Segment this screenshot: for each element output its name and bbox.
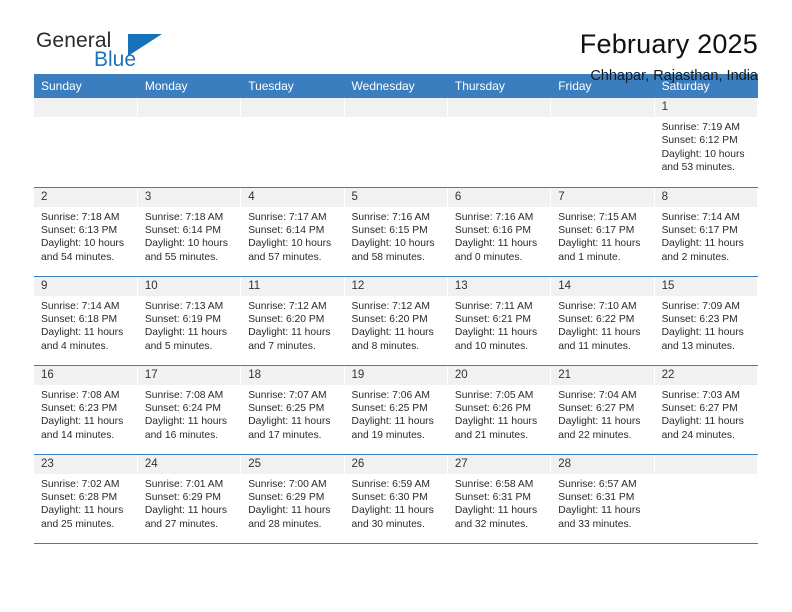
sunrise-text: Sunrise: 7:06 AM xyxy=(352,389,442,402)
day-sun-info: Sunrise: 7:12 AMSunset: 6:20 PMDaylight:… xyxy=(241,296,343,354)
sunrise-text: Sunrise: 7:09 AM xyxy=(662,300,752,313)
sunrise-text: Sunrise: 7:05 AM xyxy=(455,389,545,402)
calendar-day-cell-empty xyxy=(241,98,344,187)
day-sun-info: Sunrise: 7:13 AMSunset: 6:19 PMDaylight:… xyxy=(138,296,240,354)
calendar-day-cell[interactable]: 19Sunrise: 7:06 AMSunset: 6:25 PMDayligh… xyxy=(344,365,447,454)
daylight-text-line2: and 22 minutes. xyxy=(558,429,648,442)
logo-text-blue: Blue xyxy=(94,49,136,70)
sunrise-text: Sunrise: 7:07 AM xyxy=(248,389,338,402)
sunrise-text: Sunrise: 7:12 AM xyxy=(248,300,338,313)
calendar-day-cell[interactable]: 4Sunrise: 7:17 AMSunset: 6:14 PMDaylight… xyxy=(241,187,344,276)
day-sun-info: Sunrise: 7:16 AMSunset: 6:15 PMDaylight:… xyxy=(345,207,447,265)
daylight-text-line2: and 19 minutes. xyxy=(352,429,442,442)
calendar-week-row: 1Sunrise: 7:19 AMSunset: 6:12 PMDaylight… xyxy=(34,98,758,187)
daylight-text-line1: Daylight: 11 hours xyxy=(248,326,338,339)
day-number: 13 xyxy=(448,277,550,296)
daylight-text-line2: and 21 minutes. xyxy=(455,429,545,442)
sunrise-text: Sunrise: 7:14 AM xyxy=(662,211,752,224)
daylight-text-line2: and 24 minutes. xyxy=(662,429,752,442)
daylight-text-line2: and 2 minutes. xyxy=(662,251,752,264)
sunset-text: Sunset: 6:23 PM xyxy=(662,313,752,326)
sunrise-text: Sunrise: 7:16 AM xyxy=(352,211,442,224)
day-sun-info: Sunrise: 7:14 AMSunset: 6:18 PMDaylight:… xyxy=(34,296,137,354)
sunrise-text: Sunrise: 7:04 AM xyxy=(558,389,648,402)
day-sun-info: Sunrise: 7:15 AMSunset: 6:17 PMDaylight:… xyxy=(551,207,653,265)
calendar-day-cell-empty xyxy=(137,98,240,187)
day-number: 27 xyxy=(448,455,550,474)
day-sun-info: Sunrise: 7:11 AMSunset: 6:21 PMDaylight:… xyxy=(448,296,550,354)
sunset-text: Sunset: 6:16 PM xyxy=(455,224,545,237)
sunset-text: Sunset: 6:26 PM xyxy=(455,402,545,415)
day-number: 6 xyxy=(448,188,550,207)
sunrise-text: Sunrise: 7:10 AM xyxy=(558,300,648,313)
calendar-day-cell[interactable]: 27Sunrise: 6:58 AMSunset: 6:31 PMDayligh… xyxy=(447,454,550,543)
sunset-text: Sunset: 6:14 PM xyxy=(248,224,338,237)
day-number: 14 xyxy=(551,277,653,296)
sunrise-text: Sunrise: 7:08 AM xyxy=(145,389,235,402)
sunset-text: Sunset: 6:30 PM xyxy=(352,491,442,504)
daylight-text-line2: and 5 minutes. xyxy=(145,340,235,353)
calendar-container: Sunday Monday Tuesday Wednesday Thursday… xyxy=(0,74,792,544)
day-number: 2 xyxy=(34,188,137,207)
sunrise-text: Sunrise: 7:01 AM xyxy=(145,478,235,491)
calendar-day-cell[interactable]: 24Sunrise: 7:01 AMSunset: 6:29 PMDayligh… xyxy=(137,454,240,543)
day-number: 15 xyxy=(655,277,757,296)
day-sun-info: Sunrise: 7:02 AMSunset: 6:28 PMDaylight:… xyxy=(34,474,137,532)
sunset-text: Sunset: 6:29 PM xyxy=(145,491,235,504)
day-number: 16 xyxy=(34,366,137,385)
daylight-text-line1: Daylight: 11 hours xyxy=(145,504,235,517)
sunrise-text: Sunrise: 7:19 AM xyxy=(662,121,752,134)
sunset-text: Sunset: 6:17 PM xyxy=(558,224,648,237)
calendar-page: General Blue February 2025 Chhapar, Raja… xyxy=(0,0,792,612)
day-number: 4 xyxy=(241,188,343,207)
calendar-day-cell[interactable]: 9Sunrise: 7:14 AMSunset: 6:18 PMDaylight… xyxy=(34,276,137,365)
daylight-text-line1: Daylight: 11 hours xyxy=(248,504,338,517)
daylight-text-line1: Daylight: 11 hours xyxy=(455,326,545,339)
daylight-text-line2: and 13 minutes. xyxy=(662,340,752,353)
day-sun-info: Sunrise: 6:58 AMSunset: 6:31 PMDaylight:… xyxy=(448,474,550,532)
daylight-text-line2: and 57 minutes. xyxy=(248,251,338,264)
calendar-day-cell[interactable]: 3Sunrise: 7:18 AMSunset: 6:14 PMDaylight… xyxy=(137,187,240,276)
sunset-text: Sunset: 6:24 PM xyxy=(145,402,235,415)
sunrise-text: Sunrise: 6:59 AM xyxy=(352,478,442,491)
day-number: 10 xyxy=(138,277,240,296)
calendar-day-cell[interactable]: 6Sunrise: 7:16 AMSunset: 6:16 PMDaylight… xyxy=(447,187,550,276)
day-sun-info: Sunrise: 7:08 AMSunset: 6:23 PMDaylight:… xyxy=(34,385,137,443)
sunrise-text: Sunrise: 7:11 AM xyxy=(455,300,545,313)
daylight-text-line1: Daylight: 11 hours xyxy=(455,504,545,517)
day-number: 22 xyxy=(655,366,757,385)
daylight-text-line1: Daylight: 11 hours xyxy=(41,504,132,517)
sunset-text: Sunset: 6:20 PM xyxy=(248,313,338,326)
sunset-text: Sunset: 6:27 PM xyxy=(558,402,648,415)
day-number xyxy=(138,98,240,117)
daylight-text-line2: and 17 minutes. xyxy=(248,429,338,442)
calendar-week-row: 16Sunrise: 7:08 AMSunset: 6:23 PMDayligh… xyxy=(34,365,758,454)
daylight-text-line2: and 1 minute. xyxy=(558,251,648,264)
sunset-text: Sunset: 6:15 PM xyxy=(352,224,442,237)
day-sun-info: Sunrise: 7:00 AMSunset: 6:29 PMDaylight:… xyxy=(241,474,343,532)
daylight-text-line2: and 27 minutes. xyxy=(145,518,235,531)
daylight-text-line1: Daylight: 10 hours xyxy=(145,237,235,250)
sunrise-text: Sunrise: 7:00 AM xyxy=(248,478,338,491)
sunset-text: Sunset: 6:23 PM xyxy=(41,402,132,415)
daylight-text-line2: and 16 minutes. xyxy=(145,429,235,442)
day-number: 3 xyxy=(138,188,240,207)
day-sun-info: Sunrise: 7:04 AMSunset: 6:27 PMDaylight:… xyxy=(551,385,653,443)
day-sun-info: Sunrise: 7:19 AMSunset: 6:12 PMDaylight:… xyxy=(655,117,757,175)
calendar-day-cell[interactable]: 5Sunrise: 7:16 AMSunset: 6:15 PMDaylight… xyxy=(344,187,447,276)
day-number: 7 xyxy=(551,188,653,207)
day-number: 9 xyxy=(34,277,137,296)
day-number: 11 xyxy=(241,277,343,296)
daylight-text-line2: and 28 minutes. xyxy=(248,518,338,531)
sunset-text: Sunset: 6:13 PM xyxy=(41,224,132,237)
sunset-text: Sunset: 6:12 PM xyxy=(662,134,752,147)
sunset-text: Sunset: 6:14 PM xyxy=(145,224,235,237)
day-sun-info: Sunrise: 7:07 AMSunset: 6:25 PMDaylight:… xyxy=(241,385,343,443)
calendar-week-row: 23Sunrise: 7:02 AMSunset: 6:28 PMDayligh… xyxy=(34,454,758,543)
day-number: 8 xyxy=(655,188,757,207)
day-number xyxy=(241,98,343,117)
sunrise-text: Sunrise: 7:12 AM xyxy=(352,300,442,313)
calendar-body: 1Sunrise: 7:19 AMSunset: 6:12 PMDaylight… xyxy=(34,98,758,543)
daylight-text-line1: Daylight: 10 hours xyxy=(41,237,132,250)
day-number: 1 xyxy=(655,98,757,117)
daylight-text-line1: Daylight: 11 hours xyxy=(558,326,648,339)
calendar-day-cell[interactable]: 11Sunrise: 7:12 AMSunset: 6:20 PMDayligh… xyxy=(241,276,344,365)
calendar-day-cell-empty xyxy=(654,454,757,543)
day-number: 25 xyxy=(241,455,343,474)
sunset-text: Sunset: 6:27 PM xyxy=(662,402,752,415)
calendar-day-cell[interactable]: 26Sunrise: 6:59 AMSunset: 6:30 PMDayligh… xyxy=(344,454,447,543)
daylight-text-line1: Daylight: 11 hours xyxy=(41,326,132,339)
day-sun-info: Sunrise: 7:18 AMSunset: 6:13 PMDaylight:… xyxy=(34,207,137,265)
page-title: February 2025 xyxy=(580,30,758,60)
sunrise-text: Sunrise: 6:57 AM xyxy=(558,478,648,491)
sunset-text: Sunset: 6:21 PM xyxy=(455,313,545,326)
calendar-day-cell[interactable]: 10Sunrise: 7:13 AMSunset: 6:19 PMDayligh… xyxy=(137,276,240,365)
daylight-text-line1: Daylight: 11 hours xyxy=(662,237,752,250)
day-number xyxy=(34,98,137,117)
day-number xyxy=(655,455,757,474)
day-sun-info: Sunrise: 7:01 AMSunset: 6:29 PMDaylight:… xyxy=(138,474,240,532)
sunset-text: Sunset: 6:17 PM xyxy=(662,224,752,237)
sunset-text: Sunset: 6:31 PM xyxy=(558,491,648,504)
sunrise-text: Sunrise: 7:15 AM xyxy=(558,211,648,224)
daylight-text-line2: and 55 minutes. xyxy=(145,251,235,264)
sunrise-text: Sunrise: 7:16 AM xyxy=(455,211,545,224)
calendar-day-cell-empty xyxy=(34,98,137,187)
day-sun-info: Sunrise: 7:12 AMSunset: 6:20 PMDaylight:… xyxy=(345,296,447,354)
day-sun-info: Sunrise: 7:03 AMSunset: 6:27 PMDaylight:… xyxy=(655,385,757,443)
daylight-text-line1: Daylight: 11 hours xyxy=(558,504,648,517)
daylight-text-line2: and 25 minutes. xyxy=(41,518,132,531)
day-sun-info: Sunrise: 7:16 AMSunset: 6:16 PMDaylight:… xyxy=(448,207,550,265)
weekday-header-wednesday: Wednesday xyxy=(344,74,447,98)
day-sun-info: Sunrise: 7:09 AMSunset: 6:23 PMDaylight:… xyxy=(655,296,757,354)
calendar-day-cell[interactable]: 13Sunrise: 7:11 AMSunset: 6:21 PMDayligh… xyxy=(447,276,550,365)
sunset-text: Sunset: 6:20 PM xyxy=(352,313,442,326)
daylight-text-line1: Daylight: 10 hours xyxy=(352,237,442,250)
calendar-day-cell[interactable]: 2Sunrise: 7:18 AMSunset: 6:13 PMDaylight… xyxy=(34,187,137,276)
page-header: General Blue February 2025 Chhapar, Raja… xyxy=(0,0,792,74)
sunrise-text: Sunrise: 6:58 AM xyxy=(455,478,545,491)
sunrise-text: Sunrise: 7:14 AM xyxy=(41,300,132,313)
sunset-text: Sunset: 6:22 PM xyxy=(558,313,648,326)
daylight-text-line1: Daylight: 11 hours xyxy=(662,326,752,339)
calendar-day-cell[interactable]: 14Sunrise: 7:10 AMSunset: 6:22 PMDayligh… xyxy=(551,276,654,365)
calendar-day-cell[interactable]: 20Sunrise: 7:05 AMSunset: 6:26 PMDayligh… xyxy=(447,365,550,454)
calendar-day-cell[interactable]: 22Sunrise: 7:03 AMSunset: 6:27 PMDayligh… xyxy=(654,365,757,454)
general-blue-logo[interactable]: General Blue xyxy=(34,30,184,78)
day-number: 18 xyxy=(241,366,343,385)
daylight-text-line2: and 11 minutes. xyxy=(558,340,648,353)
day-sun-info: Sunrise: 7:14 AMSunset: 6:17 PMDaylight:… xyxy=(655,207,757,265)
calendar-day-cell[interactable]: 25Sunrise: 7:00 AMSunset: 6:29 PMDayligh… xyxy=(241,454,344,543)
calendar-day-cell-empty xyxy=(344,98,447,187)
daylight-text-line1: Daylight: 10 hours xyxy=(662,148,752,161)
title-block: February 2025 Chhapar, Rajasthan, India xyxy=(580,30,758,85)
daylight-text-line1: Daylight: 11 hours xyxy=(558,237,648,250)
calendar-day-cell[interactable]: 8Sunrise: 7:14 AMSunset: 6:17 PMDaylight… xyxy=(654,187,757,276)
calendar-week-row: 2Sunrise: 7:18 AMSunset: 6:13 PMDaylight… xyxy=(34,187,758,276)
calendar-day-cell[interactable]: 21Sunrise: 7:04 AMSunset: 6:27 PMDayligh… xyxy=(551,365,654,454)
daylight-text-line2: and 30 minutes. xyxy=(352,518,442,531)
daylight-text-line2: and 7 minutes. xyxy=(248,340,338,353)
day-number: 19 xyxy=(345,366,447,385)
calendar-day-cell-empty xyxy=(551,98,654,187)
daylight-text-line2: and 14 minutes. xyxy=(41,429,132,442)
day-number xyxy=(551,98,653,117)
daylight-text-line1: Daylight: 11 hours xyxy=(352,415,442,428)
daylight-text-line2: and 53 minutes. xyxy=(662,161,752,174)
sunrise-text: Sunrise: 7:18 AM xyxy=(41,211,132,224)
calendar-week-row: 9Sunrise: 7:14 AMSunset: 6:18 PMDaylight… xyxy=(34,276,758,365)
daylight-text-line1: Daylight: 11 hours xyxy=(352,504,442,517)
day-number: 21 xyxy=(551,366,653,385)
day-number: 24 xyxy=(138,455,240,474)
calendar-day-cell-empty xyxy=(447,98,550,187)
calendar-day-cell[interactable]: 23Sunrise: 7:02 AMSunset: 6:28 PMDayligh… xyxy=(34,454,137,543)
day-number: 26 xyxy=(345,455,447,474)
daylight-text-line1: Daylight: 11 hours xyxy=(558,415,648,428)
day-number: 12 xyxy=(345,277,447,296)
day-sun-info: Sunrise: 6:59 AMSunset: 6:30 PMDaylight:… xyxy=(345,474,447,532)
day-sun-info: Sunrise: 7:08 AMSunset: 6:24 PMDaylight:… xyxy=(138,385,240,443)
daylight-text-line1: Daylight: 11 hours xyxy=(662,415,752,428)
day-sun-info: Sunrise: 6:57 AMSunset: 6:31 PMDaylight:… xyxy=(551,474,653,532)
sunset-text: Sunset: 6:29 PM xyxy=(248,491,338,504)
daylight-text-line1: Daylight: 11 hours xyxy=(352,326,442,339)
calendar-day-cell[interactable]: 12Sunrise: 7:12 AMSunset: 6:20 PMDayligh… xyxy=(344,276,447,365)
day-number: 17 xyxy=(138,366,240,385)
weekday-header-tuesday: Tuesday xyxy=(241,74,344,98)
daylight-text-line2: and 33 minutes. xyxy=(558,518,648,531)
day-sun-info: Sunrise: 7:06 AMSunset: 6:25 PMDaylight:… xyxy=(345,385,447,443)
day-sun-info: Sunrise: 7:05 AMSunset: 6:26 PMDaylight:… xyxy=(448,385,550,443)
sunset-text: Sunset: 6:18 PM xyxy=(41,313,132,326)
day-number: 5 xyxy=(345,188,447,207)
daylight-text-line1: Daylight: 11 hours xyxy=(41,415,132,428)
calendar-day-cell[interactable]: 1Sunrise: 7:19 AMSunset: 6:12 PMDaylight… xyxy=(654,98,757,187)
day-sun-info: Sunrise: 7:10 AMSunset: 6:22 PMDaylight:… xyxy=(551,296,653,354)
sunset-text: Sunset: 6:31 PM xyxy=(455,491,545,504)
daylight-text-line2: and 10 minutes. xyxy=(455,340,545,353)
day-number: 23 xyxy=(34,455,137,474)
daylight-text-line1: Daylight: 11 hours xyxy=(145,415,235,428)
day-number: 20 xyxy=(448,366,550,385)
calendar-table: Sunday Monday Tuesday Wednesday Thursday… xyxy=(34,74,758,544)
sunset-text: Sunset: 6:19 PM xyxy=(145,313,235,326)
daylight-text-line1: Daylight: 10 hours xyxy=(248,237,338,250)
calendar-day-cell[interactable]: 16Sunrise: 7:08 AMSunset: 6:23 PMDayligh… xyxy=(34,365,137,454)
weekday-header-thursday: Thursday xyxy=(447,74,550,98)
sunset-text: Sunset: 6:28 PM xyxy=(41,491,132,504)
daylight-text-line2: and 58 minutes. xyxy=(352,251,442,264)
sunrise-text: Sunrise: 7:17 AM xyxy=(248,211,338,224)
sunset-text: Sunset: 6:25 PM xyxy=(352,402,442,415)
sunset-text: Sunset: 6:25 PM xyxy=(248,402,338,415)
sunrise-text: Sunrise: 7:18 AM xyxy=(145,211,235,224)
day-sun-info: Sunrise: 7:18 AMSunset: 6:14 PMDaylight:… xyxy=(138,207,240,265)
day-sun-info: Sunrise: 7:17 AMSunset: 6:14 PMDaylight:… xyxy=(241,207,343,265)
daylight-text-line2: and 4 minutes. xyxy=(41,340,132,353)
calendar-day-cell[interactable]: 15Sunrise: 7:09 AMSunset: 6:23 PMDayligh… xyxy=(654,276,757,365)
daylight-text-line2: and 0 minutes. xyxy=(455,251,545,264)
daylight-text-line1: Daylight: 11 hours xyxy=(248,415,338,428)
daylight-text-line1: Daylight: 11 hours xyxy=(455,415,545,428)
calendar-day-cell[interactable]: 18Sunrise: 7:07 AMSunset: 6:25 PMDayligh… xyxy=(241,365,344,454)
sunrise-text: Sunrise: 7:13 AM xyxy=(145,300,235,313)
calendar-day-cell[interactable]: 17Sunrise: 7:08 AMSunset: 6:24 PMDayligh… xyxy=(137,365,240,454)
daylight-text-line2: and 32 minutes. xyxy=(455,518,545,531)
sunrise-text: Sunrise: 7:08 AM xyxy=(41,389,132,402)
calendar-day-cell[interactable]: 28Sunrise: 6:57 AMSunset: 6:31 PMDayligh… xyxy=(551,454,654,543)
day-number: 28 xyxy=(551,455,653,474)
daylight-text-line1: Daylight: 11 hours xyxy=(455,237,545,250)
day-number xyxy=(345,98,447,117)
day-number xyxy=(448,98,550,117)
sunrise-text: Sunrise: 7:03 AM xyxy=(662,389,752,402)
daylight-text-line2: and 54 minutes. xyxy=(41,251,132,264)
daylight-text-line2: and 8 minutes. xyxy=(352,340,442,353)
calendar-day-cell[interactable]: 7Sunrise: 7:15 AMSunset: 6:17 PMDaylight… xyxy=(551,187,654,276)
daylight-text-line1: Daylight: 11 hours xyxy=(145,326,235,339)
sunrise-text: Sunrise: 7:02 AM xyxy=(41,478,132,491)
